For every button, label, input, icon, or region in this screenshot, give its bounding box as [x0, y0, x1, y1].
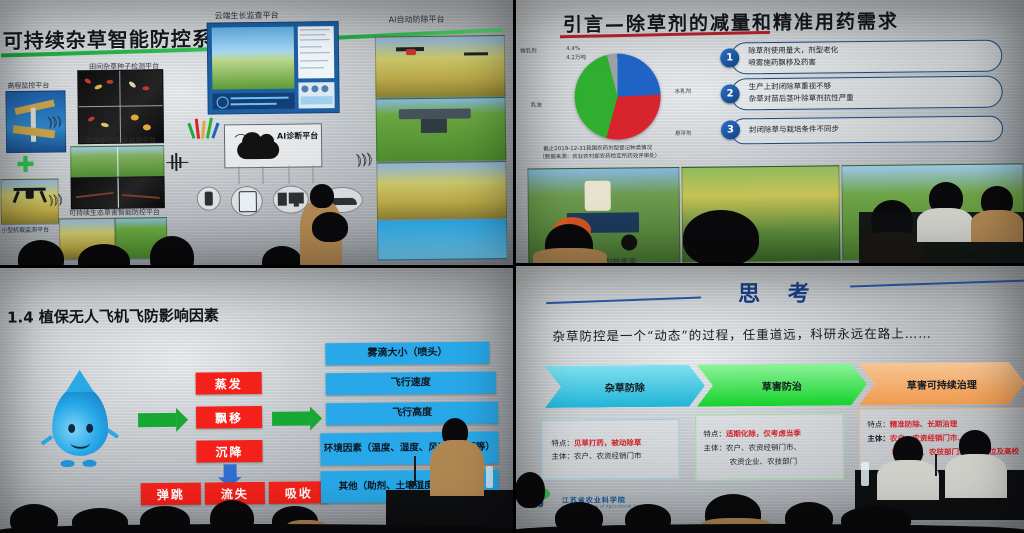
water-bottle — [861, 462, 869, 486]
waveform-icon — [166, 153, 188, 171]
bullet-text-line1: 封闭除草与栽培条件不同步 — [749, 124, 839, 136]
panelist-body — [877, 460, 939, 500]
detail-1-feature: 特点：见草打药，被动除草 — [551, 437, 641, 449]
detail-2-subject2: 农资企业、农技部门 — [729, 456, 797, 468]
collage-root: 可持续杂草智能防控系统 高程监控平台 ✚ 小型机载监测平台 ⦆⦆⦆ ⦆⦆⦆ 田间… — [0, 0, 1024, 533]
chart-note-line2: （数据来源：农业农村部农药检定所药效评审处） — [539, 153, 660, 162]
weed-cluster-icon — [188, 116, 222, 140]
slide-sentence: 杂草防控是一个“动态”的过程，任重道远，科研永远在路上…… — [552, 323, 931, 345]
param-flight-height: 飞行高度 — [326, 401, 498, 425]
droplet-foot-right — [83, 460, 97, 467]
audience-row — [515, 524, 1024, 533]
connector-3 — [288, 166, 289, 184]
photo-weed-seed-grid — [77, 69, 164, 144]
photo-slide-top-right: 引言—除草剂的减量和精准用药需求 微乳剂 4.4% 4.2万吨 水乳剂 悬浮剂 … — [515, 0, 1024, 266]
droplet-arm-left — [40, 435, 53, 446]
connector-2 — [262, 166, 263, 184]
plus-icon: ✚ — [16, 155, 35, 177]
label-high-elevation: 高程监控平台 — [7, 81, 49, 92]
wifi-signal-icon-3: ⦆⦆⦆ — [355, 150, 373, 168]
wifi-signal-icon-2: ⦆⦆⦆ — [48, 192, 64, 208]
pie-label-ec: 乳油 — [531, 100, 542, 108]
audience-head — [312, 212, 348, 242]
green-arrow-2 — [272, 411, 310, 425]
panelist-body — [917, 208, 973, 242]
photo-field-night — [71, 176, 165, 209]
bullet-text-line2: 喷雾施药飘移及药害 — [748, 58, 816, 70]
bullet-text-line1: 除草剂使用量大，剂型老化 — [748, 45, 838, 57]
bullet-number: 3 — [721, 120, 740, 139]
stage-label: 杂草防除 — [605, 379, 645, 394]
water-bottle — [486, 466, 493, 488]
grid-seam-horizontal-right — [515, 263, 1024, 266]
connector-4 — [312, 165, 313, 183]
audience-row — [0, 524, 515, 533]
stage-label: 草害可持续治理 — [907, 376, 977, 392]
title-rule-right — [850, 280, 1024, 288]
factor-deposition: 沉降 — [196, 440, 262, 463]
connector-1 — [238, 166, 239, 184]
photo-sprayer-machine — [376, 97, 507, 163]
panelist-body — [945, 454, 1007, 498]
photo-screen-blue — [377, 219, 507, 261]
droplet-foot-left — [61, 460, 75, 467]
panelist-body — [971, 210, 1023, 242]
photo-slide-bottom-left: 1.4 植保无人飞机飞防影响因素 蒸发 飘移 沉降 弹跳 流失 吸收 雾滴 — [0, 268, 515, 533]
param-droplet-size: 雾滴大小（喷头） — [325, 342, 489, 366]
droplet-arm-right — [106, 428, 119, 439]
photo-field-left — [70, 145, 164, 178]
blue-arrow-down — [224, 464, 237, 478]
photo-slide-bottom-right: 思 考 杂草防控是一个“动态”的过程，任重道远，科研永远在路上…… 杂草防除 草… — [515, 266, 1024, 533]
photo-slide-top-left: 可持续杂草智能防控系统 高程监控平台 ✚ 小型机载监测平台 ⦆⦆⦆ ⦆⦆⦆ 田间… — [0, 0, 515, 268]
tablet-icon — [231, 186, 263, 216]
detail-3-feature: 特点：精准防除、长期治理 — [867, 418, 957, 430]
photo-drone-spray — [375, 35, 506, 99]
droplet-eye-right — [86, 424, 93, 433]
grid-seam-horizontal-left — [0, 265, 515, 268]
audience-head — [683, 210, 759, 266]
stage-chevron-1: 杂草防除 — [545, 365, 705, 408]
factor-bounce: 弹跳 — [141, 483, 201, 506]
param-flight-speed: 飞行速度 — [326, 372, 496, 396]
audience-head — [515, 472, 545, 508]
pie-label-ew: 水乳剂 — [675, 87, 692, 95]
microphone-stand — [935, 454, 937, 476]
title-rule-left — [546, 296, 701, 304]
bullet-text-line2: 杂草对苗后茎叶除草剂抗性严重 — [749, 93, 854, 105]
green-arrow-1 — [138, 413, 176, 427]
factor-evaporation: 蒸发 — [196, 372, 262, 395]
bullet-number: 1 — [720, 48, 739, 67]
wifi-signal-icon-1: ⦆⦆⦆ — [47, 114, 63, 130]
detail-2-feature: 特点：适期化除，仅考虑当季 — [703, 428, 801, 440]
pie-value-micro: 4.4% — [566, 46, 580, 52]
pie-label-micro: 微乳剂 — [520, 46, 537, 54]
label-cloud-growth: 云端生长监查平台 — [214, 10, 278, 22]
bullet-number: 2 — [721, 84, 740, 103]
bullet-text-line1: 生产上封闭除草重视不够 — [749, 81, 832, 93]
detail-2-subject: 主体：农户、农资经销门市、 — [703, 442, 801, 454]
stage-label: 草害防治 — [762, 377, 802, 392]
photo-cloud-dashboard — [207, 21, 340, 115]
pie-chart — [574, 53, 661, 140]
detail-box-1 — [541, 419, 680, 480]
pie-value-micro-tons: 4.2万吨 — [566, 53, 586, 61]
speaker-body — [430, 440, 484, 496]
stage-chevron-3: 草害可持续治理 — [859, 362, 1024, 405]
slide-title: 思 考 — [738, 276, 820, 309]
pie-label-sc: 悬浮剂 — [675, 129, 692, 137]
label-ai-diagnosis: AI诊断平台 — [277, 130, 318, 142]
label-mobile-platform: 小型机载监测平台 — [1, 225, 49, 235]
label-ai-auto-control: AI自动防除平台 — [389, 14, 445, 26]
factor-drift: 飘移 — [196, 406, 262, 429]
photo-field-harvest — [376, 161, 507, 221]
phone-icon — [197, 186, 221, 210]
audience-head — [310, 184, 334, 208]
slide-title: 1.4 植保无人飞机飞防影响因素 — [7, 304, 219, 327]
detail-1-subject: 主体：农户、农资经销门市 — [551, 450, 641, 462]
ai-diagnosis-box: ⌒ AI诊断平台 — [224, 123, 323, 168]
droplet-eye-left — [68, 424, 75, 433]
stage-chevron-2: 草害防治 — [697, 363, 867, 406]
slide-content-top-left: 可持续杂草智能防控系统 高程监控平台 ✚ 小型机载监测平台 ⦆⦆⦆ ⦆⦆⦆ 田间… — [0, 1, 515, 268]
microphone-stand — [414, 456, 416, 486]
